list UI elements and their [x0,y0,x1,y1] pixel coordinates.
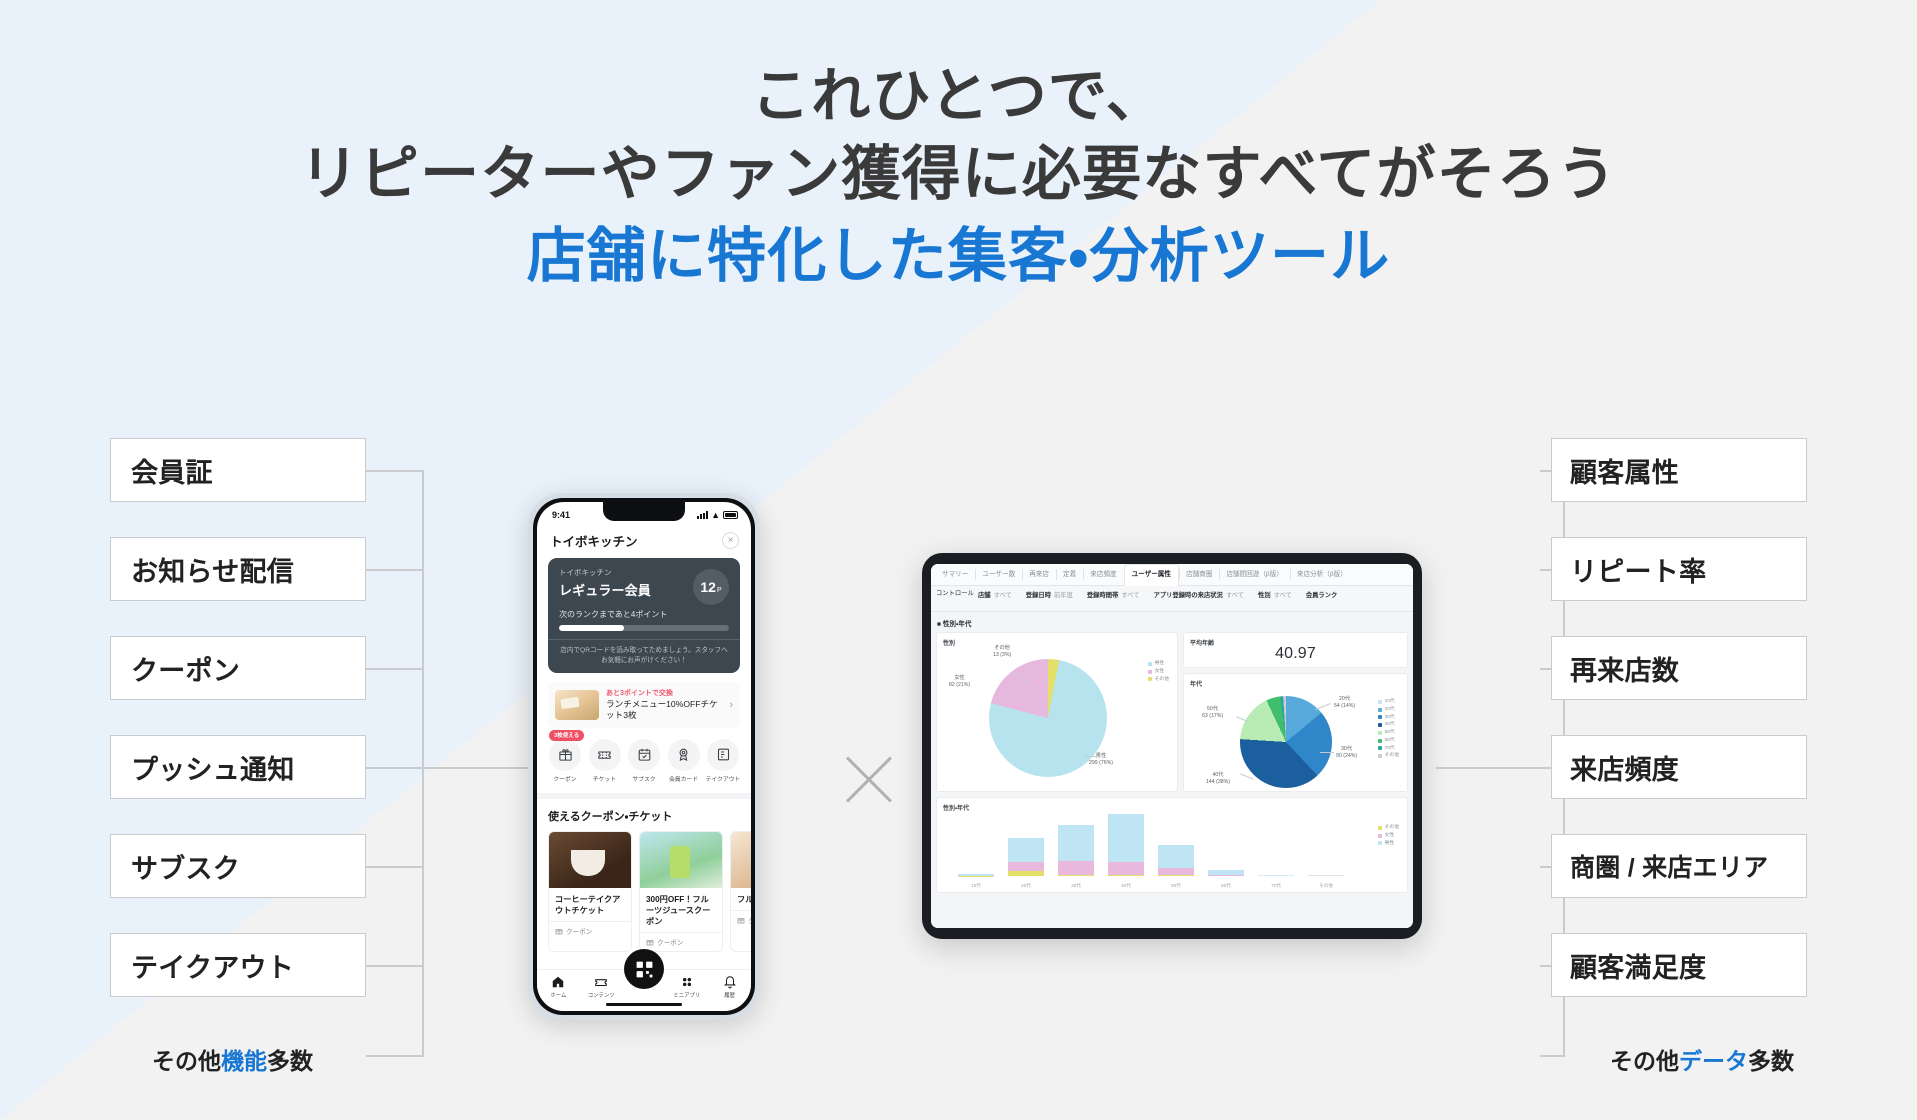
tab-revisit[interactable]: 再来店 [1022,564,1056,585]
tab-user-count[interactable]: ユーザー数 [975,564,1022,585]
headline-line-3: 店舗に特化した集客・分析ツール [0,218,1917,296]
tab-label: ホーム [537,991,580,999]
left-features-footer: その他機能多数 [152,1042,313,1076]
legend-item: その他 [1378,824,1399,832]
bar-segment-female [1158,868,1194,875]
bar-column-20s: 20代 [1008,814,1044,876]
legend-label: 50代 [1385,729,1395,737]
age-slice-label-40s: 40代 144 (38%) [1206,772,1230,786]
legend-label: 60代 [1385,737,1395,745]
left-connector-stub-5 [366,965,424,967]
filter-bar: コントロール 店舗 すべて 登録日時 前年度 登録時間帯 すべて アプリ登録時の… [931,586,1413,612]
rank-progress-bar [559,625,729,631]
quick-action-badge: 3枚使える [549,730,584,741]
legend-label: 男性 [1155,660,1165,668]
tab-label: ミニアプリ [665,991,708,999]
section-title-gender-age: ■ 性別・年代 [937,618,1408,628]
data-label: 顧客属性 [1570,451,1679,490]
left-connector-stub-2 [366,668,424,670]
filter-key: 性別 [1258,590,1271,599]
legend-label: 70代 [1385,745,1395,753]
feature-label: サブスク [131,847,240,886]
left-footer-accent: 機能 [221,1048,267,1074]
filter-value: すべて [994,590,1012,599]
promo-banner[interactable]: あと3ポイントで交換 ランチメニュー10%OFFチケット3枚 › [548,682,740,728]
bar-segment-other [1008,871,1044,876]
bar-segment-female [1108,862,1144,875]
points-value: 12 [700,579,716,595]
phone-bezel: 9:41 ▲ トイボキッチン × トイボキッチン レギュラー会員 12 [533,498,755,1015]
bar-x-label: 10代 [958,883,994,889]
average-age-value: 40.97 [1184,645,1407,663]
filter-control-label: コントロール [936,590,978,598]
bar-segment-male [1308,875,1344,876]
quick-action-subscription[interactable]: サブスク [625,739,663,783]
data-box-revisit-count[interactable]: 再来店数 [1551,636,1807,700]
filter-key: 会員ランク [1306,590,1337,599]
age-leader-line [1240,773,1253,779]
bar-x-label: 60代 [1208,883,1244,889]
tab-label: コンテンツ [580,991,623,999]
right-connector-stub-6 [1540,1055,1565,1057]
legend-item: 40代 [1378,721,1399,729]
legend-label: その他 [1385,752,1399,760]
legend-item: その他 [1378,752,1399,760]
data-label: リピート率 [1570,550,1706,589]
gender-pie-title: 性別 [937,633,1177,647]
average-age-panel: 平均年齢 40.97 [1183,632,1408,668]
medal-icon [668,739,700,771]
ticket-icon [589,739,621,771]
bar-column-30s: 30代 [1058,814,1094,876]
filter-register-time[interactable]: 登録時間帯 すべて [1087,590,1140,599]
bar-x-label: 20代 [1008,883,1044,889]
quick-action-member-card[interactable]: 会員カード [665,739,703,783]
coupon-type: クーポン [549,921,631,940]
dashboard-tab-bar: サマリー ユーザー数 再来店 定着 来店頻度 ユーザー属性 店舗商圏 店舗間回遊… [931,564,1413,586]
filter-member-rank[interactable]: 会員ランク [1306,590,1337,599]
left-connector-spine [422,470,424,1056]
gift-icon [549,739,581,771]
receipt-icon [707,739,739,771]
tab-retention[interactable]: 定着 [1056,564,1083,585]
feature-box-push[interactable]: プッシュ通知 [110,735,366,799]
legend-label: 女性 [1385,832,1395,840]
coupon-title: 300円OFF！フルーツジュースクーポン [640,888,722,932]
home-indicator [606,1003,682,1006]
coupon-type-label: ク [748,915,751,925]
left-footer-prefix: その他 [152,1048,221,1074]
points-unit: P [717,587,722,594]
bar-segment-male [1058,825,1094,861]
legend-item: 50代 [1378,729,1399,737]
age-pie-chart [1240,696,1332,788]
feature-label: クーポン [131,649,240,688]
feature-label: お知らせ配信 [131,550,294,589]
qr-code-icon[interactable] [624,949,664,989]
bar-chart-plot: 10代 20代 30代 [951,814,1351,876]
left-connector-stub-4 [366,866,424,868]
right-features-footer: その他データ多数 [1610,1042,1794,1076]
quick-action-label: 会員カード [665,774,703,783]
data-box-trade-area[interactable]: 商圏 / 来店エリア [1551,834,1807,898]
age-slice-label-50s: 50代 63 (17%) [1202,706,1223,720]
coupon-type-label: クーポン [657,937,683,947]
legend-item: 30代 [1378,714,1399,722]
legend-label: 40代 [1385,721,1395,729]
bar-column-60s: 60代 [1208,814,1244,876]
dashboard-screen: サマリー ユーザー数 再来店 定着 来店頻度 ユーザー属性 店舗商圏 店舗間回遊… [931,564,1413,928]
legend-label: 10代 [1385,698,1395,706]
filter-visit-status[interactable]: アプリ登録時の来店状況 すべて [1154,590,1244,599]
data-label: 顧客満足度 [1570,946,1706,985]
dashboard-body: ■ 性別・年代 性別 その他 13 (3%) 女性 82 (21%) 男性 29… [931,612,1413,928]
promo-description: ランチメニュー10%OFFチケット3枚 [606,699,722,722]
gender-pie-legend: 男性 女性 その他 [1148,660,1169,683]
legend-label: 20代 [1385,706,1395,714]
feature-box-subscription[interactable]: サブスク [110,834,366,898]
tab-trade-area[interactable]: 店舗商圏 [1179,564,1219,585]
right-footer-accent: データ [1679,1048,1748,1074]
gift-icon [555,927,563,935]
data-label: 再来店数 [1570,649,1679,688]
right-connector-trunk [1436,767,1564,769]
age-pie-title: 年代 [1184,674,1407,688]
quick-action-label: サブスク [625,774,663,783]
legend-label: 女性 [1155,668,1165,676]
bar-x-label: その他 [1308,883,1344,889]
age-slice-label-30s: 30代 90 (24%) [1336,746,1357,760]
bar-segment-female [1208,875,1244,876]
left-connector-stub-3 [366,767,424,769]
app-title: トイボキッチン [550,531,638,550]
bar-segment-other [1058,875,1094,877]
legend-item: 70代 [1378,745,1399,753]
bar-segment-male [1008,838,1044,862]
calendar-check-icon [628,739,660,771]
quick-action-ticket[interactable]: チケット [586,739,624,783]
bar-segment-male [1158,845,1194,868]
gender-slice-label-other: その他 13 (3%) [993,645,1011,659]
bar-segment-other [1158,875,1194,876]
quick-action-label: テイクアウト [704,774,742,783]
gender-slice-label-female: 女性 82 (21%) [949,675,970,689]
filter-key: アプリ登録時の来店状況 [1154,590,1223,599]
filter-key: 登録時間帯 [1087,590,1118,599]
filter-store[interactable]: 店舗 すべて [978,590,1012,599]
tab-summary[interactable]: サマリー [935,564,975,585]
bar-x-label: 50代 [1158,883,1194,889]
feature-box-takeout[interactable]: テイクアウト [110,933,366,997]
coupon-card[interactable]: フル無料 ク [730,831,751,952]
tab-home[interactable]: ホーム [537,975,580,999]
bar-x-label: 30代 [1058,883,1094,889]
data-box-repeat-rate[interactable]: リピート率 [1551,537,1807,601]
legend-item: 男性 [1148,660,1169,668]
coupon-type: クーポン [640,932,722,951]
bar-column-10s: 10代 [958,814,994,876]
home-icon [551,975,565,989]
bar-segment-male [1108,814,1144,862]
phone-notch [603,502,685,521]
headline-line-1: これひとつで、 [0,58,1917,136]
next-rank-text: 次のランクまであと4ポイント [559,609,729,620]
coupon-title: コーヒーテイクアウトチケット [549,888,631,921]
coupon-card-row: コーヒーテイクアウトチケット クーポン 300円OFF！フルーツジュースクーポン… [537,831,751,952]
age-leader-line [1315,703,1330,710]
app-header: トイボキッチン × [537,526,751,558]
tab-store-circulation[interactable]: 店舗間回遊（β版） [1219,564,1290,585]
gift-icon [646,938,654,946]
cellular-signal-icon [697,512,708,519]
filter-value: すべて [1121,590,1139,599]
age-pie-legend: 10代 20代 30代 40代 50代 60代 70代 その他 [1378,698,1399,760]
feature-box-announcement[interactable]: お知らせ配信 [110,537,366,601]
data-box-customer-attribute[interactable]: 顧客属性 [1551,438,1807,502]
points-badge: 12 P [693,569,729,605]
promo-thumbnail [555,690,599,720]
data-label: 商圏 / 来店エリア [1570,848,1768,884]
quick-action-coupon[interactable]: クーポン [546,739,584,783]
bar-segment-male [1258,875,1294,876]
data-box-visit-frequency[interactable]: 来店頻度 [1551,735,1807,799]
left-footer-suffix: 多数 [267,1048,313,1074]
data-box-satisfaction[interactable]: 顧客満足度 [1551,933,1807,997]
gift-icon [737,916,745,924]
legend-item: 20代 [1378,706,1399,714]
age-pie-panel: 年代 20代 54 (14%) 30代 90 (24%) 40代 144 (38… [1183,673,1408,792]
close-icon[interactable]: × [722,532,739,549]
phone-screen: 9:41 ▲ トイボキッチン × トイボキッチン レギュラー会員 12 [537,502,751,1011]
gender-pie-panel: 性別 その他 13 (3%) 女性 82 (21%) 男性 299 (76%) … [936,632,1178,792]
tab-user-attribute[interactable]: ユーザー属性 [1124,564,1179,586]
right-footer-suffix: 多数 [1748,1048,1794,1074]
tab-visit-analysis[interactable]: 来店分析（β版） [1290,564,1354,585]
legend-label: その他 [1385,824,1399,832]
feature-box-coupon[interactable]: クーポン [110,636,366,700]
feature-label: 会員証 [131,451,213,490]
coupon-type: ク [731,910,751,929]
bar-column-40s: 40代 [1108,814,1144,876]
legend-label: その他 [1155,676,1169,684]
data-label: 来店頻度 [1570,748,1679,787]
bar-x-label: 70代 [1258,883,1294,889]
bar-x-label: 40代 [1108,883,1144,889]
bar-segment-female [1008,862,1044,871]
legend-item: 10代 [1378,698,1399,706]
quick-action-row: 3枚使える クーポン チケット [537,728,751,793]
bar-segment-other [958,876,994,877]
tab-contents[interactable]: コンテンツ [580,975,623,999]
page-title: これひとつで、 リピーターやファン獲得に必要なすべてがそろう 店舗に特化した集客… [0,58,1917,296]
left-connector-trunk [422,767,528,769]
bar-column-other: その他 [1308,814,1344,876]
bar-segment-other [1108,875,1144,876]
bar-column-50s: 50代 [1158,814,1194,876]
apps-icon [680,975,694,989]
age-slice-label-20s: 20代 54 (14%) [1334,696,1355,710]
tab-mini-apps[interactable]: ミニアプリ [665,975,708,999]
right-footer-prefix: その他 [1610,1048,1679,1074]
age-leader-line [1320,752,1334,753]
filter-value: すべて [1274,590,1292,599]
ticket-icon [594,975,608,989]
bar-segment-female [1058,861,1094,875]
tab-history[interactable]: 履歴 [708,975,751,999]
promo-graphic: これひとつで、 リピーターやファン獲得に必要なすべてがそろう 店舗に特化した集客… [0,0,1917,1120]
status-time: 9:41 [552,510,570,520]
promo-tag: あと3ポイントで交換 [606,688,722,698]
phone-mockup: 9:41 ▲ トイボキッチン × トイボキッチン レギュラー会員 12 [528,493,760,1020]
chevron-right-icon: › [729,699,733,711]
coupon-section-title: 使えるクーポン・チケット [537,799,751,831]
legend-item: 60代 [1378,737,1399,745]
coupon-image [640,832,722,888]
gender-leader-line [1085,756,1099,757]
filter-gender[interactable]: 性別 すべて [1258,590,1292,599]
quick-action-label: クーポン [546,774,584,783]
qr-instruction-note: 店内でQRコードを読み取ってためましょう。スタッフへお気軽にお声がけください！ [548,639,740,673]
legend-item: その他 [1148,676,1169,684]
bar-column-70s: 70代 [1258,814,1294,876]
multiply-icon [838,748,900,810]
legend-label: 男性 [1385,840,1395,848]
feature-box-membership[interactable]: 会員証 [110,438,366,502]
tablet-mockup: サマリー ユーザー数 再来店 定着 来店頻度 ユーザー属性 店舗商圏 店舗間回遊… [922,553,1422,939]
membership-card[interactable]: トイボキッチン レギュラー会員 12 P 次のランクまであと4ポイント 店内でQ… [548,558,740,673]
gender-age-bar-panel: 性別・年代 10代 20代 [936,797,1408,893]
legend-item: 男性 [1378,840,1399,848]
feature-label: プッシュ通知 [131,748,295,787]
headline-line-2: リピーターやファン獲得に必要なすべてがそろう [0,136,1917,214]
legend-item: 女性 [1148,668,1169,676]
filter-register-date[interactable]: 登録日時 前年度 [1026,590,1073,599]
quick-action-takeout[interactable]: テイクアウト [704,739,742,783]
wifi-icon: ▲ [711,511,720,520]
battery-icon [723,511,738,519]
feature-label: テイクアウト [131,946,294,985]
legend-item: 女性 [1378,832,1399,840]
left-connector-stub-6 [366,1055,424,1057]
bell-icon [723,975,737,989]
quick-action-label: チケット [586,774,624,783]
filter-key: 登録日時 [1026,590,1051,599]
coupon-title: フル無料 [731,888,751,910]
filter-key: 店舗 [978,590,991,599]
filter-value: 前年度 [1054,590,1073,599]
filter-value: すべて [1226,590,1244,599]
coupon-card[interactable]: 300円OFF！フルーツジュースクーポン クーポン [639,831,723,952]
coupon-card[interactable]: コーヒーテイクアウトチケット クーポン [548,831,632,952]
coupon-image [731,832,751,888]
coupon-type-label: クーポン [566,926,592,936]
tab-visit-frequency[interactable]: 来店頻度 [1083,564,1123,585]
bar-chart-title: 性別・年代 [937,798,1407,812]
left-connector-stub-0 [366,470,424,472]
coupon-image [549,832,631,888]
bar-chart-legend: その他 女性 男性 [1378,824,1399,847]
legend-label: 30代 [1385,714,1395,722]
left-connector-stub-1 [366,569,424,571]
tab-label: 履歴 [708,991,751,999]
